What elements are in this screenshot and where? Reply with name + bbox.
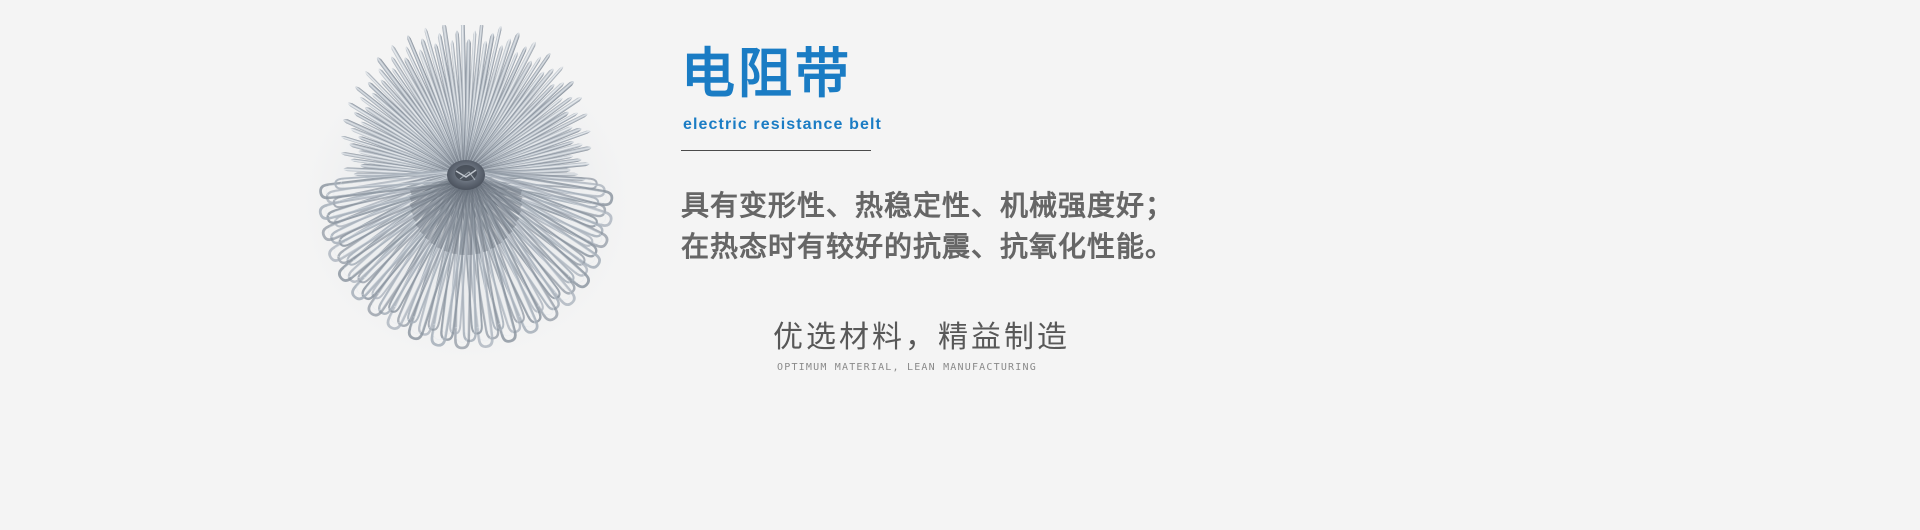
product-image — [270, 25, 690, 425]
resistance-belt-radial-bundle-icon — [270, 25, 690, 425]
product-banner: 电阻带 electric resistance belt 具有变形性、热稳定性、… — [0, 0, 1920, 530]
description-block: 具有变形性、热稳定性、机械强度好； 在热态时有较好的抗震、抗氧化性能。 — [681, 185, 1301, 267]
page-title: 电阻带 — [681, 44, 1301, 104]
title-divider — [681, 150, 871, 151]
title-block: 电阻带 electric resistance belt — [681, 44, 1301, 151]
slogan-chinese: 优选材料，精益制造 — [773, 318, 1333, 358]
slogan-english: OPTIMUM MATERIAL, LEAN MANUFACTURING — [777, 361, 1333, 375]
page-subtitle: electric resistance belt — [683, 114, 1301, 136]
text-content: 电阻带 electric resistance belt 具有变形性、热稳定性、… — [681, 0, 1681, 530]
description-line-1: 具有变形性、热稳定性、机械强度好； — [681, 185, 1301, 226]
slogan-block: 优选材料，精益制造 OPTIMUM MATERIAL, LEAN MANUFAC… — [773, 318, 1333, 375]
description-line-2: 在热态时有较好的抗震、抗氧化性能。 — [681, 226, 1301, 267]
